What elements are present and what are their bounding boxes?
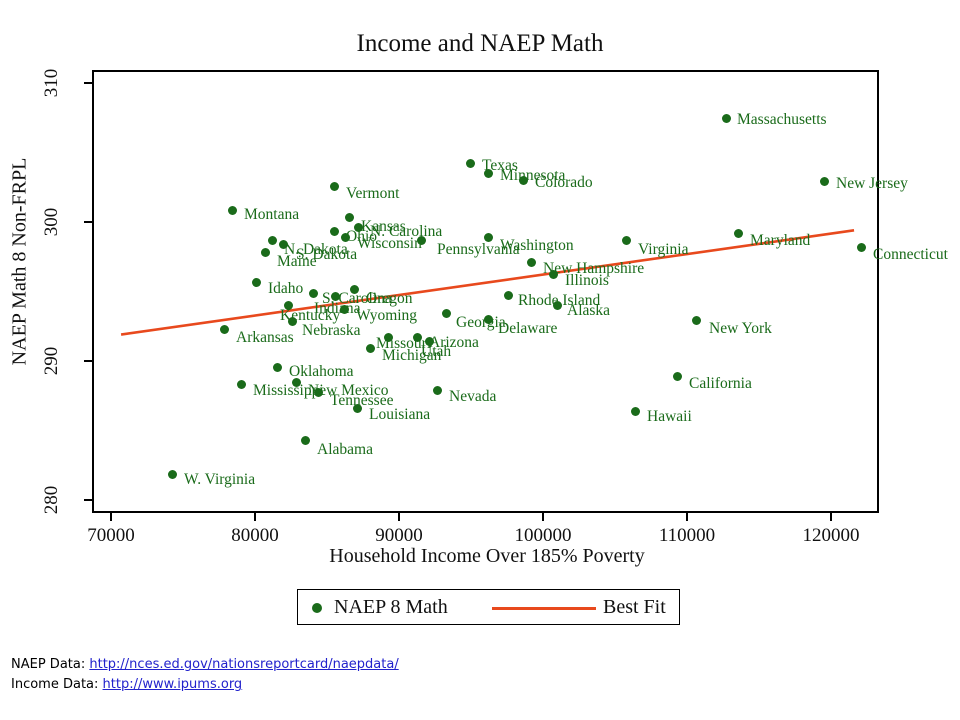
scatter-point-label: Virginia (638, 241, 688, 259)
scatter-point-label: Oregon (366, 290, 413, 308)
scatter-point[interactable] (631, 407, 640, 416)
scatter-point-label: Maryland (750, 232, 810, 250)
scatter-point-label: Washington (500, 237, 574, 255)
scatter-point[interactable] (820, 177, 829, 186)
scatter-point-label: Colorado (535, 174, 593, 192)
scatter-point[interactable] (330, 227, 339, 236)
scatter-point[interactable] (273, 363, 282, 372)
scatter-point-label: Idaho (268, 280, 303, 298)
scatter-point[interactable] (549, 270, 558, 279)
scatter-point[interactable] (340, 305, 349, 314)
scatter-point[interactable] (288, 317, 297, 326)
legend-line-icon (492, 607, 596, 610)
scatter-point[interactable] (237, 380, 246, 389)
naep-data-link[interactable]: http://nces.ed.gov/nationsreportcard/nae… (89, 657, 398, 672)
footer: NAEP Data: http://nces.ed.gov/nationsrep… (11, 655, 611, 695)
scatter-point[interactable] (268, 236, 277, 245)
footer-naep-prefix: NAEP Data: (11, 657, 89, 672)
scatter-point-label: Hawaii (647, 408, 692, 426)
scatter-point[interactable] (330, 182, 339, 191)
scatter-point-label: Connecticut (873, 246, 948, 264)
scatter-point[interactable] (433, 386, 442, 395)
chart-root: Income and NAEP Math NAEP Math 8 Non-FRP… (0, 0, 960, 720)
legend-marker-icon (312, 603, 322, 613)
scatter-point[interactable] (484, 315, 493, 324)
scatter-point[interactable] (722, 114, 731, 123)
scatter-point-label: New Jersey (836, 175, 908, 193)
scatter-point[interactable] (519, 176, 528, 185)
scatter-point-label: New York (709, 320, 772, 338)
scatter-point-label: Arkansas (236, 329, 294, 347)
scatter-point-label: Wisconsin (357, 235, 422, 253)
scatter-point-label: Maine (277, 253, 317, 271)
scatter-point[interactable] (261, 248, 270, 257)
scatter-point[interactable] (309, 289, 318, 298)
footer-income-row: Income Data: http://www.ipums.org (11, 675, 611, 695)
scatter-point[interactable] (857, 243, 866, 252)
scatter-point-label: Alaska (567, 302, 610, 320)
scatter-point[interactable] (734, 229, 743, 238)
scatter-point[interactable] (673, 372, 682, 381)
scatter-point[interactable] (228, 206, 237, 215)
scatter-point-label: Massachusetts (737, 111, 827, 129)
scatter-point-label: Michigan (382, 347, 441, 365)
legend-label-series: NAEP 8 Math (334, 596, 448, 619)
scatter-point-label: Delaware (498, 320, 557, 338)
scatter-point[interactable] (314, 388, 323, 397)
scatter-point-label: Alabama (317, 441, 373, 459)
scatter-point-label: Montana (244, 206, 299, 224)
scatter-point[interactable] (622, 236, 631, 245)
scatter-point[interactable] (279, 240, 288, 249)
scatter-point-label: Nebraska (302, 322, 361, 340)
legend-label-fit: Best Fit (603, 596, 666, 619)
scatter-point[interactable] (504, 291, 513, 300)
legend: NAEP 8 Math Best Fit (297, 589, 680, 625)
footer-income-prefix: Income Data: (11, 677, 103, 692)
scatter-point-label: Nevada (449, 388, 496, 406)
scatter-point[interactable] (220, 325, 229, 334)
income-data-link[interactable]: http://www.ipums.org (103, 677, 243, 692)
footer-naep-row: NAEP Data: http://nces.ed.gov/nationsrep… (11, 655, 611, 675)
scatter-point[interactable] (527, 258, 536, 267)
scatter-point[interactable] (353, 404, 362, 413)
scatter-point[interactable] (413, 333, 422, 342)
scatter-point[interactable] (345, 213, 354, 222)
scatter-point-label: Louisiana (369, 406, 430, 424)
scatter-point[interactable] (350, 285, 359, 294)
scatter-point[interactable] (301, 436, 310, 445)
scatter-point[interactable] (484, 169, 493, 178)
scatter-point[interactable] (553, 301, 562, 310)
scatter-point[interactable] (442, 309, 451, 318)
scatter-point[interactable] (292, 378, 301, 387)
scatter-point-label: W. Virginia (184, 471, 255, 489)
scatter-point-label: Vermont (346, 185, 399, 203)
scatter-point[interactable] (484, 233, 493, 242)
scatter-point[interactable] (252, 278, 261, 287)
scatter-point[interactable] (366, 344, 375, 353)
scatter-point[interactable] (168, 470, 177, 479)
scatter-point[interactable] (466, 159, 475, 168)
scatter-point-label: California (689, 375, 752, 393)
scatter-point-label: Wyoming (356, 307, 417, 325)
scatter-point[interactable] (417, 236, 426, 245)
scatter-point-label: Illinois (565, 272, 609, 290)
scatter-point[interactable] (692, 316, 701, 325)
